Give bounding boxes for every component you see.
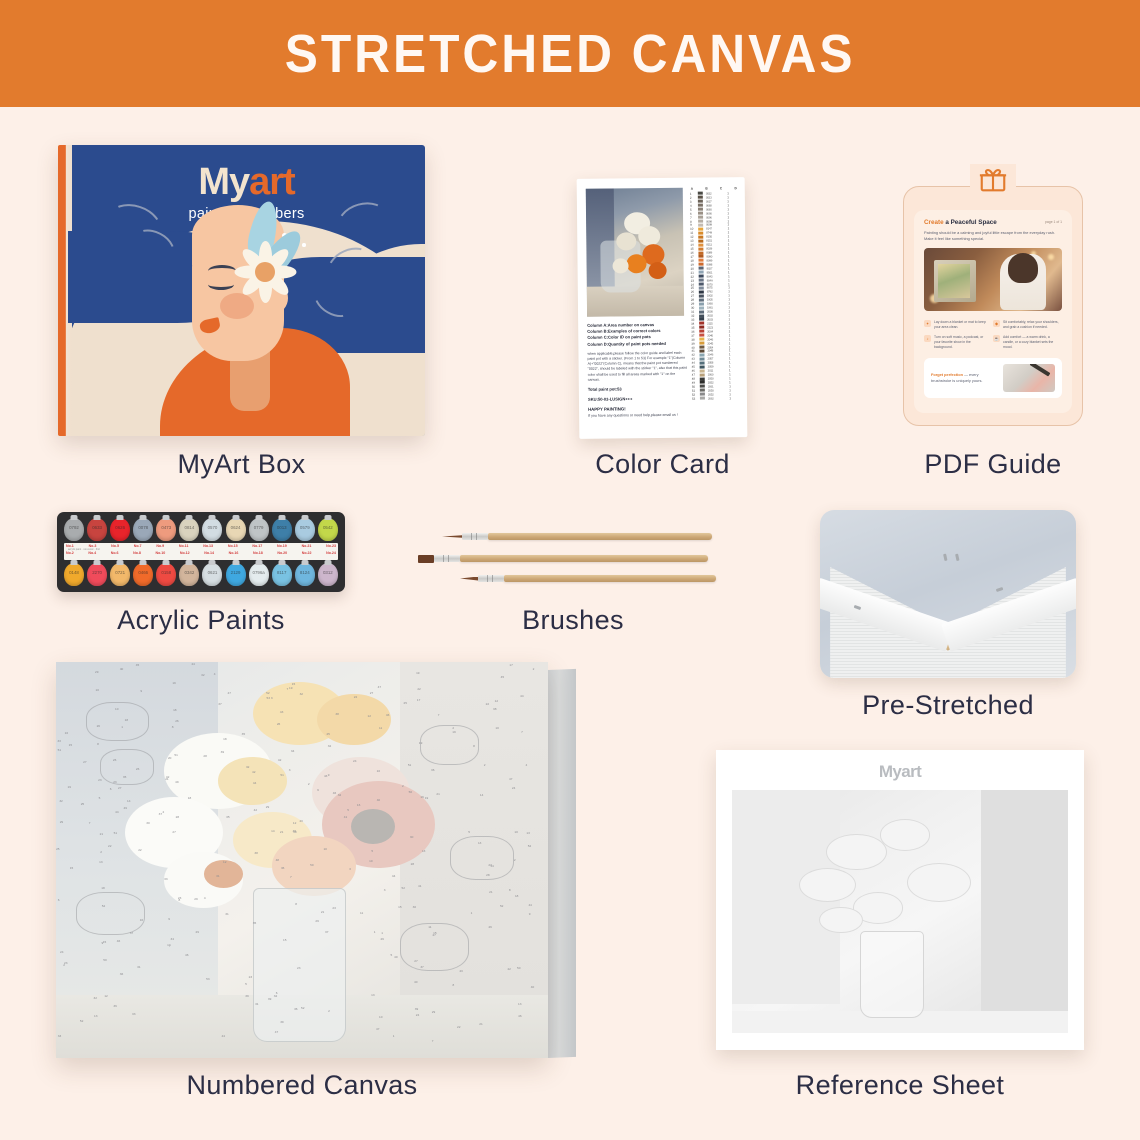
paint-pot: 0542 bbox=[318, 518, 338, 541]
canvas-region-number: 44 bbox=[520, 694, 523, 698]
canvas-region-number: 47 bbox=[228, 691, 231, 695]
canvas-region-number: 22 bbox=[457, 1025, 460, 1029]
pdf-heading-rest: a Peaceful Space bbox=[944, 219, 997, 226]
canvas-region-number: 2 bbox=[533, 667, 535, 671]
paint-pot: 0312 bbox=[318, 563, 338, 586]
canvas-region-number: 1 bbox=[121, 725, 123, 729]
broom-icon: ✦ bbox=[924, 320, 931, 327]
paint-pot-label: No.5 bbox=[111, 544, 119, 548]
paint-pot-id: 0579 bbox=[295, 525, 315, 530]
canvas-region-number: 4 bbox=[525, 763, 527, 767]
acrylic-paints-image: 0792063306260078047308140570062407790013… bbox=[57, 512, 345, 592]
pdf-footer-bold: Forget perfection bbox=[931, 372, 963, 377]
paint-pot-label: No.14 bbox=[204, 551, 214, 555]
paint-pot: 8124 bbox=[295, 563, 315, 586]
canvas-region-number: 2 bbox=[100, 850, 102, 854]
paint-pot: 0148 bbox=[64, 563, 84, 586]
canvas-region-number: 37 bbox=[130, 931, 133, 935]
ref-jar-region bbox=[860, 931, 924, 1018]
canvas-region-number: 53 bbox=[206, 977, 209, 981]
cell-color-swatch bbox=[699, 302, 704, 305]
canvas-region-number: 32 bbox=[59, 799, 62, 803]
cell-color-swatch bbox=[699, 318, 704, 321]
contact-text: If you have any questions or need help,p… bbox=[588, 413, 688, 418]
canvas-region-number: 37 bbox=[218, 702, 221, 706]
brush-ferrule bbox=[478, 575, 504, 581]
cell-color-swatch bbox=[699, 279, 704, 282]
canvas-region-number: 12 bbox=[104, 994, 107, 998]
canvas-region-number: 14 bbox=[271, 829, 274, 833]
canvas-region-number: 38 bbox=[335, 712, 338, 716]
brush-tip-icon bbox=[442, 535, 462, 538]
canvas-region-number: 43 bbox=[280, 710, 283, 714]
canvas-region-number: 31 bbox=[137, 965, 140, 969]
cell-color-swatch bbox=[700, 389, 705, 392]
canvas-region-number: 22 bbox=[486, 702, 489, 706]
canvas-region-number: 35 bbox=[226, 815, 229, 819]
painting-on-easel bbox=[938, 264, 970, 298]
paint-pot-label: No.7 bbox=[134, 544, 142, 548]
canvas-region-number: 22 bbox=[507, 967, 510, 971]
canvas-region-number: 2 bbox=[308, 782, 310, 786]
canvas-region-number: 24 bbox=[191, 662, 194, 666]
canvas-region-number: 29 bbox=[266, 805, 269, 809]
canvas-region-number: 14 bbox=[127, 799, 130, 803]
canvas-region-number: 49 bbox=[124, 806, 127, 810]
cell-color-swatch bbox=[698, 216, 703, 219]
paint-pot-label: No.2 bbox=[66, 551, 74, 555]
cell-color-swatch bbox=[700, 369, 705, 372]
canvas-region-number: 21 bbox=[489, 890, 492, 894]
cell-color-swatch bbox=[699, 322, 704, 325]
canvas-region-number: 26 bbox=[136, 767, 139, 771]
canvas-region-number: 11 bbox=[428, 925, 431, 929]
pdf-tip-item: ✦Lay down a blanket or mat to keep your … bbox=[924, 317, 993, 332]
canvas-region-number: 20 bbox=[168, 756, 171, 760]
canvas-region-number: 44 bbox=[253, 781, 256, 785]
myart-box-image: Myart paint by numbers bbox=[58, 145, 425, 436]
canvas-region-number: 47 bbox=[432, 933, 435, 937]
ref-flower bbox=[880, 819, 930, 851]
canvas-region-number: 5 bbox=[99, 796, 101, 800]
paint-pot-label: No.24 bbox=[326, 551, 336, 555]
paint-pot-id: 0626 bbox=[110, 525, 130, 530]
canvas-region-number: 15 bbox=[292, 682, 295, 686]
canvas-region-number: 36 bbox=[294, 1007, 297, 1011]
canvas-region-number: 4 bbox=[214, 672, 216, 676]
pdf-heading-highlight: Create bbox=[924, 219, 944, 226]
paint-pot: 0342 bbox=[179, 563, 199, 586]
canvas-region-number: 13 bbox=[422, 849, 425, 853]
canvas-region-number: 12 bbox=[223, 860, 226, 864]
canvas-region-number: 6 bbox=[110, 787, 112, 791]
canvas-region-number: 27 bbox=[83, 760, 86, 764]
canvas-region-number: 28 bbox=[411, 862, 414, 866]
canvas-region-number: 1 bbox=[374, 930, 376, 934]
canvas-region-number: 8 bbox=[452, 983, 454, 987]
canvas-region-number: 30 bbox=[293, 830, 296, 834]
canvas-region-number: 10 bbox=[323, 847, 326, 851]
paint-pot-id: 0473 bbox=[156, 525, 176, 530]
closed-eye bbox=[208, 279, 234, 290]
canvas-front-face: 7273242279105251301013919131341123352445… bbox=[56, 662, 548, 1058]
paint-pot-id: 0796a bbox=[249, 570, 269, 575]
canvas-region-number: 7 bbox=[438, 713, 440, 717]
sku-label: SKU:50-03-LUSIGN+++ bbox=[588, 396, 688, 403]
canvas-region-number: 45 bbox=[501, 675, 504, 679]
canvas-region-number: 52 bbox=[401, 886, 404, 890]
paint-pot: 0633 bbox=[87, 518, 107, 541]
cell-color-swatch bbox=[698, 224, 703, 227]
paint-pot-label: No.8 bbox=[133, 551, 141, 555]
paint-pot-row-top: 0792063306260078047308140570062407790013… bbox=[64, 518, 338, 541]
canvas-region-number: 35 bbox=[123, 775, 126, 779]
cell-color-swatch bbox=[699, 287, 704, 290]
cell-color-swatch bbox=[700, 357, 705, 360]
cell-color-swatch bbox=[700, 373, 705, 376]
color-card-image: Column A:Area number on canvas Column B:… bbox=[578, 178, 746, 438]
canvas-region-number: 42 bbox=[278, 758, 281, 762]
canvas-region-number: 39 bbox=[280, 1020, 283, 1024]
canvas-region-number: 19 bbox=[416, 671, 419, 675]
cell-color-swatch bbox=[698, 243, 703, 246]
canvas-region-number: 33 bbox=[57, 739, 60, 743]
paint-pot: 0621 bbox=[202, 563, 222, 586]
canvas-region-number: 27 bbox=[370, 691, 373, 695]
numbered-canvas-image: 7273242279105251301013919131341123352445… bbox=[56, 662, 576, 1058]
paint-pot-id: 0078 bbox=[133, 525, 153, 530]
canvas-region-number: 8 bbox=[172, 725, 174, 729]
logo-my-text: My bbox=[198, 161, 249, 203]
paint-pot: 0624 bbox=[226, 518, 246, 541]
canvas-region-number: 14 bbox=[490, 864, 493, 868]
canvas-region-number: 40 bbox=[120, 667, 123, 671]
canvas-region-number: 18 bbox=[101, 886, 104, 890]
pdf-footer-image bbox=[1003, 364, 1055, 392]
canvas-region-number: 44 bbox=[528, 903, 531, 907]
canvas-region-number: 26 bbox=[113, 758, 116, 762]
canvas-region-number: 32 bbox=[246, 765, 249, 769]
canvas-region-number: 31 bbox=[225, 912, 228, 916]
canvas-region-number: 43 bbox=[459, 969, 462, 973]
canvas-region-number: 38 bbox=[254, 851, 257, 855]
canvas-region-number: 18 bbox=[515, 894, 518, 898]
cell-color-swatch bbox=[698, 259, 703, 262]
canvas-region-number: 50 bbox=[517, 966, 520, 970]
canvas-region-number: 46 bbox=[117, 939, 120, 943]
cell-color-swatch bbox=[700, 385, 705, 388]
caption-brushes: Brushes bbox=[418, 605, 728, 636]
header-banner: STRETCHED CANVAS bbox=[0, 0, 1140, 107]
pdf-footer-text: Forget perfection — every brushstroke is… bbox=[931, 372, 997, 384]
music-icon: ♪ bbox=[924, 335, 931, 342]
paint-pot-id: 0148 bbox=[64, 570, 84, 575]
canvas-region-number: 24 bbox=[512, 786, 515, 790]
canvas-region-number: 34 bbox=[171, 937, 174, 941]
sparkle-dot bbox=[302, 243, 306, 247]
canvas-region-number: 46 bbox=[333, 791, 336, 795]
drink-icon: ☕ bbox=[993, 335, 1000, 342]
canvas-region-number: 21 bbox=[321, 910, 324, 914]
cell-color-swatch bbox=[698, 196, 703, 199]
canvas-region-number: 47 bbox=[275, 1030, 278, 1034]
canvas-region-number: 32 bbox=[201, 673, 204, 677]
caption-reference-sheet: Reference Sheet bbox=[716, 1070, 1084, 1101]
color-card-photo bbox=[586, 188, 684, 317]
ref-flower bbox=[826, 834, 886, 870]
canvas-region-number: 31 bbox=[216, 874, 219, 878]
canvas-region-number: 16 bbox=[140, 918, 143, 922]
canvas-flower-region bbox=[317, 694, 391, 745]
th-b: B bbox=[705, 187, 707, 191]
paint-pot-id: 0633 bbox=[87, 525, 107, 530]
canvas-region-number: 8 bbox=[295, 902, 297, 906]
canvas-region-number: 46 bbox=[518, 1014, 521, 1018]
brush-tip-icon bbox=[460, 577, 478, 581]
canvas-region-number: 8 bbox=[473, 744, 475, 748]
paint-pot-label: No.22 bbox=[302, 551, 312, 555]
canvas-region-number: 13 bbox=[518, 1002, 521, 1006]
canvas-region-number: 50 bbox=[409, 790, 412, 794]
reference-sheet-image: Myart bbox=[716, 750, 1084, 1050]
brush-medium-round bbox=[460, 574, 716, 583]
paint-pot-label: No.4 bbox=[88, 551, 96, 555]
canvas-region-number: 18 bbox=[125, 718, 128, 722]
canvas-region-number: 19 bbox=[172, 681, 175, 685]
color-table: A B C D 10022120023130027140088150080160… bbox=[690, 186, 740, 400]
cell-color-swatch bbox=[700, 377, 705, 380]
color-table-body: 1002212002313002714008815008016009017009… bbox=[690, 191, 740, 400]
canvas-region-number: 6 bbox=[58, 898, 60, 902]
canvas-region-number: 23 bbox=[249, 975, 252, 979]
paint-pot-label: No.16 bbox=[229, 551, 239, 555]
canvas-region-number: 10 bbox=[377, 769, 380, 773]
canvas-region-number: 3 bbox=[384, 888, 386, 892]
cell-color-swatch bbox=[699, 314, 704, 317]
canvas-region-number: 51 bbox=[408, 763, 411, 767]
canvas-region-number: 15 bbox=[69, 743, 72, 747]
canvas-region-number: 2 bbox=[402, 784, 404, 788]
canvas-region-number: 36 bbox=[431, 768, 434, 772]
canvas-region-number: 41 bbox=[344, 815, 347, 819]
infographic-page: STRETCHED CANVAS bbox=[0, 0, 1140, 1140]
color-card-text: Column A:Area number on canvas Column B:… bbox=[587, 322, 688, 418]
cell-color-swatch bbox=[698, 220, 703, 223]
cell-color-swatch bbox=[698, 251, 703, 254]
canvas-region-number: 51 bbox=[114, 831, 117, 835]
ref-flower bbox=[799, 868, 856, 902]
paint-pot-id: 0013 bbox=[272, 525, 292, 530]
canvas-region-number: 25 bbox=[81, 802, 84, 806]
canvas-region-number: 1 bbox=[381, 931, 383, 935]
canvas-region-number: 10 bbox=[379, 1015, 382, 1019]
page-title: STRETCHED CANVAS bbox=[285, 23, 856, 85]
canvas-region-number: 25 bbox=[403, 701, 406, 705]
paint-pot-label: No.20 bbox=[277, 551, 287, 555]
caption-color-card: Color Card bbox=[560, 449, 765, 480]
canvas-region-number: 10 bbox=[514, 830, 517, 834]
caption-acrylic-paints: Acrylic Paints bbox=[57, 605, 345, 636]
pdf-footer-card: Forget perfection — every brushstroke is… bbox=[924, 358, 1062, 398]
cell-color-swatch bbox=[698, 208, 703, 211]
paint-pot-label: No.12 bbox=[180, 551, 190, 555]
canvas-region-number: 52 bbox=[102, 904, 105, 908]
canvas-region-number: 21 bbox=[436, 792, 439, 796]
canvas-region-number: 45 bbox=[136, 663, 139, 667]
caption-myart-box: MyArt Box bbox=[58, 449, 425, 480]
canvas-region-number: 6 bbox=[276, 991, 278, 995]
box-front-panel: Myart paint by numbers bbox=[68, 145, 425, 436]
caption-pdf-guide: PDF Guide bbox=[893, 449, 1093, 480]
cell-color-swatch bbox=[699, 350, 704, 353]
paint-pot-label: No.23 bbox=[326, 544, 336, 548]
ref-curtain-region bbox=[981, 790, 1068, 1033]
pdf-tip-item: ☕Add comfort — a warm drink, a candle, o… bbox=[993, 332, 1062, 352]
paint-label-strip: No.1No.3No.5No.7No.9No.11No.13No.15No.17… bbox=[64, 543, 338, 560]
canvas-region-number: 32 bbox=[300, 692, 303, 696]
canvas-region-number: 22 bbox=[138, 848, 141, 852]
canvas-region-number: 33 bbox=[164, 877, 167, 881]
canvas-region-number: 21 bbox=[280, 830, 283, 834]
canvas-region-number: 10 bbox=[96, 688, 99, 692]
canvas-region-number: 32 bbox=[93, 996, 96, 1000]
pdf-tip-item: ♪Turn on soft music, a podcast, or your … bbox=[924, 332, 993, 352]
cell-color-swatch bbox=[698, 235, 703, 238]
color-table-row: 5320621 bbox=[692, 396, 740, 400]
canvas-region-number: 4 bbox=[204, 896, 206, 900]
canvas-segment bbox=[450, 836, 514, 880]
canvas-region-number: 10 bbox=[369, 859, 372, 863]
canvas-region-number: 21 bbox=[165, 777, 168, 781]
paint-pot: 2129 bbox=[226, 563, 246, 586]
canvas-region-number: 34 bbox=[338, 793, 341, 797]
pdf-tip-text: Add comfort — a warm drink, a candle, or… bbox=[1003, 335, 1059, 350]
paint-pot-id: 0542 bbox=[318, 525, 338, 530]
pdf-tip-text: Lay down a blanket or mat to keep your a… bbox=[934, 320, 990, 330]
cell-color-swatch bbox=[698, 247, 703, 250]
paint-pot-label: No.11 bbox=[179, 544, 189, 548]
canvas-region-number: 29 bbox=[60, 820, 63, 824]
canvas-region-number: 26 bbox=[277, 722, 280, 726]
pdf-tip-text: Turn on soft music, a podcast, or your f… bbox=[934, 335, 990, 350]
paint-pot: 0814 bbox=[179, 518, 199, 541]
canvas-region-number: 24 bbox=[353, 759, 356, 763]
canvas-region-number: 29 bbox=[432, 1010, 435, 1014]
brush-fine-round bbox=[442, 532, 712, 541]
canvas-region-number: 19 bbox=[452, 730, 455, 734]
canvas-region-number: 3 bbox=[289, 768, 291, 772]
canvas-region-number: 30 bbox=[413, 905, 416, 909]
gift-icon bbox=[970, 164, 1016, 199]
paint-pot-id: 0466 bbox=[133, 570, 153, 575]
canvas-region-number: 31 bbox=[255, 1002, 258, 1006]
paint-pot-id: 0312 bbox=[318, 570, 338, 575]
canvas-region-number: 13 bbox=[526, 831, 529, 835]
canvas-region-number: 46 bbox=[185, 953, 188, 957]
cell-color-swatch bbox=[698, 192, 703, 195]
canvas-region-number: 15 bbox=[70, 866, 73, 870]
canvas-region-number: 15 bbox=[283, 938, 286, 942]
paint-pot-id: 0621 bbox=[202, 570, 222, 575]
paint-pot: 0796a bbox=[249, 563, 269, 586]
canvas-region-number: 2 bbox=[63, 963, 65, 967]
canvas-region-number: 24 bbox=[60, 950, 63, 954]
paint-pot-id: 0158 bbox=[156, 570, 176, 575]
paint-pot: 0473 bbox=[156, 518, 176, 541]
canvas-region-number: 41 bbox=[418, 884, 421, 888]
canvas-segment bbox=[420, 725, 479, 765]
canvas-region-number: 39 bbox=[415, 1007, 418, 1011]
canvas-region-number: 19 bbox=[67, 785, 70, 789]
cell-color-swatch bbox=[700, 365, 705, 368]
canvas-region-number: 49 bbox=[380, 937, 383, 941]
cell-color-swatch bbox=[700, 393, 705, 396]
brush-handle bbox=[460, 555, 708, 562]
paint-pot-id: 0624 bbox=[226, 525, 246, 530]
canvas-region-number: 51 bbox=[280, 773, 283, 777]
strip-labels-bottom: No.2No.4No.6No.8No.10No.12No.14No.16No.1… bbox=[66, 551, 336, 555]
cell-color-swatch bbox=[698, 227, 703, 230]
canvas-region-number: 52 bbox=[500, 904, 503, 908]
canvas-region-number: 50 bbox=[310, 863, 313, 867]
canvas-region-number: 17 bbox=[167, 943, 170, 947]
cell-color-swatch bbox=[699, 342, 704, 345]
canvas-region-number: 29 bbox=[194, 897, 197, 901]
pdf-tips-list: ✦Lay down a blanket or mat to keep your … bbox=[924, 317, 1062, 353]
caption-pre-stretched: Pre-Stretched bbox=[820, 690, 1076, 721]
reference-sheet-paper: Myart bbox=[716, 750, 1084, 1050]
chair-icon: ◆ bbox=[993, 320, 1000, 327]
brushes-image bbox=[418, 528, 728, 590]
canvas-segment bbox=[76, 892, 145, 936]
canvas-region-number: 22 bbox=[108, 844, 111, 848]
paint-pot: 0466 bbox=[133, 563, 153, 586]
canvas-region-number: 40 bbox=[377, 798, 380, 802]
pdf-tip-text: Sit comfortably, relax your shoulders, a… bbox=[1003, 320, 1059, 330]
paint-pot-label: No.13 bbox=[203, 544, 213, 548]
canvas-region-number: 23 bbox=[113, 780, 116, 784]
canvas-region-number: 21 bbox=[479, 1022, 482, 1026]
paint-pot-label: No.6 bbox=[111, 551, 119, 555]
color-card-instructions: when applicable,please follow the color … bbox=[587, 351, 687, 383]
canvas-region-number: 26 bbox=[97, 724, 100, 728]
cell-color-swatch bbox=[699, 326, 704, 329]
canvas-region-number: 13 bbox=[94, 1014, 97, 1018]
canvas-region-number: 9 bbox=[328, 773, 330, 777]
brush-flat bbox=[418, 554, 708, 563]
canvas-region-number: 10 bbox=[495, 726, 498, 730]
cell-area-number: 53 bbox=[692, 396, 700, 400]
cell-color-swatch bbox=[699, 271, 704, 274]
paint-pot: 0779 bbox=[249, 518, 269, 541]
pdf-page-content: page 1 of 1 Create a Peaceful Space Pain… bbox=[914, 210, 1072, 413]
canvas-region-number: 1 bbox=[471, 911, 473, 915]
canvas-region-number: 5 bbox=[245, 982, 247, 986]
paint-pot-label: No.17 bbox=[252, 544, 262, 548]
canvas-region-number: 36 bbox=[281, 866, 284, 870]
canvas-region-number: 17 bbox=[509, 663, 512, 667]
canvas-region-number: 39 bbox=[268, 997, 271, 1001]
canvas-region-number: 35 bbox=[253, 921, 256, 925]
brush-tip-icon bbox=[418, 555, 434, 563]
cell-color-swatch bbox=[700, 381, 705, 384]
canvas-region-number: 48 bbox=[276, 858, 279, 862]
cell-color-swatch bbox=[699, 283, 704, 286]
cell-color-swatch bbox=[699, 310, 704, 313]
paint-pot: 0570 bbox=[202, 518, 222, 541]
cell-color-swatch bbox=[698, 200, 703, 203]
canvas-region-number: 9 bbox=[529, 912, 531, 916]
